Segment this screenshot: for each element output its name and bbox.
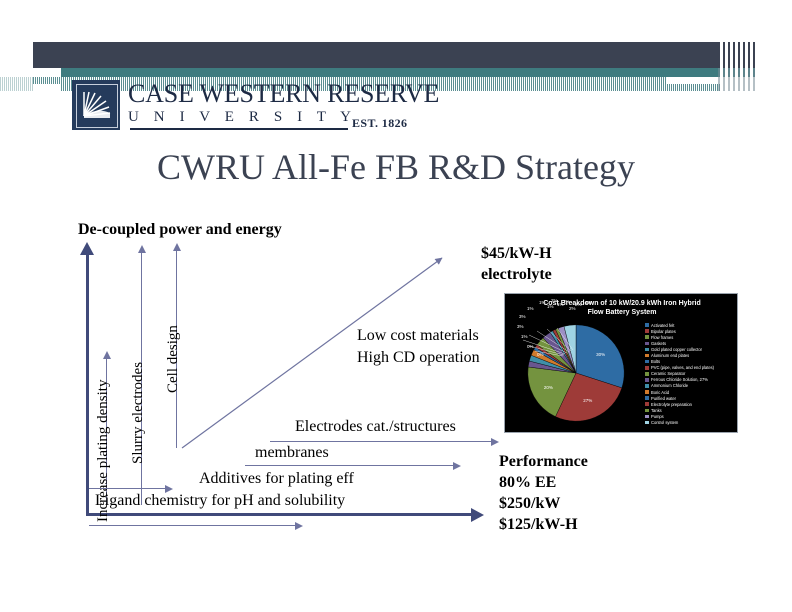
header-teal-notch-left [33,68,61,77]
legend-label: Electrolyte preparation [651,402,692,407]
legend-swatch [645,372,649,376]
y-axis-line [86,252,89,516]
header-white-notch [666,77,721,84]
y-axis-arrowhead [80,242,94,255]
logo-line-1: CASE WESTERN RESERVE [128,80,448,107]
chart-legend: Activated feltBipolar platesFlow framesG… [645,322,737,426]
pie-slice-label: 0% [537,352,544,357]
legend-swatch [645,415,649,419]
pie-slice-label: 2% [569,306,576,311]
legend-item: Control system [645,420,737,426]
chart-title-line-1: Cost Breakdown of 10 kW/20.9 kWh Iron Hy… [513,299,731,308]
pie-slice-label: 3% [517,324,524,329]
pie-slice-label: 1% [521,334,528,339]
legend-label: Tanks [651,408,662,413]
header-hatch-fade [0,77,33,91]
cost-callout: $45/kW-H electrolyte [481,243,552,285]
header-teal-band [33,68,756,77]
vertical-label-slurry-electrodes: Slurry electrodes [130,362,147,464]
legend-label: Bipolar plates [651,329,676,334]
diagonal-note-line-2: High CD operation [357,347,480,369]
pie-graphic: 30%27%20%2%2%2%1%1%3%3%1%0%0%1%1%2%4% [523,320,629,426]
legend-swatch [645,366,649,370]
legend-swatch [645,384,649,388]
legend-swatch [645,390,649,394]
horizontal-arrow-2 [89,488,166,489]
legend-label: Flow frames [651,335,673,340]
pie-slice-label: 20% [544,385,553,390]
legend-label: Gaskets [651,341,666,346]
pie-slice-label: 0% [527,344,534,349]
pie-slice-label: 30% [596,352,605,357]
header-navy-bar [33,42,756,68]
cost-callout-line-1: $45/kW-H [481,243,552,264]
legend-label: Ferrous Chloride Solution, 27% [651,377,708,382]
x-axis-line [86,513,478,516]
performance-line-3: $250/kW [499,493,588,514]
legend-swatch [645,348,649,352]
pie-slice-label: 2% [575,302,582,307]
slide-canvas: 26 CASE WESTERN RESERVE U N I V E R S I … [0,0,792,612]
legend-swatch [645,402,649,406]
horizontal-arrow-1 [89,525,296,526]
legend-label: Pumps [651,414,664,419]
page-title: CWRU All-Fe FB R&D Strategy [0,146,792,188]
pie-slice-label: 27% [583,398,592,403]
logo-underline [130,128,348,130]
chart-title: Cost Breakdown of 10 kW/20.9 kWh Iron Hy… [513,299,731,317]
pie-slice-label: 1% [547,304,554,309]
cwru-logo-mark [72,80,120,130]
legend-swatch [645,342,649,346]
diagram-heading: De-coupled power and energy [78,221,282,239]
pie-slice-label: 2% [563,299,570,304]
legend-label: PVC (pipe, valves, and end plates) [651,365,714,370]
chart-title-line-2: Flow Battery System [513,308,731,317]
legend-label: Gold plated copper collector [651,347,702,352]
legend-label: Activated felt [651,323,674,328]
performance-line-1: Performance [499,451,588,472]
legend-label: Boric Acid [651,390,669,395]
legend-label: Purified water [651,396,676,401]
diagonal-note-line-1: Low cost materials [357,325,480,347]
header-right-stripes-top [718,42,756,68]
pie-slice-label: 3% [519,314,526,319]
legend-label: Ceramic Separator [651,371,685,376]
pie-slices [523,320,629,426]
legend-swatch [645,421,649,425]
cost-breakdown-pie-chart: Cost Breakdown of 10 kW/20.9 kWh Iron Hy… [504,293,738,433]
cost-callout-line-2: electrolyte [481,264,552,285]
performance-line-4: $125/kW-H [499,514,588,535]
performance-callout: Performance 80% EE $250/kW $125/kW-H [499,451,588,535]
legend-swatch [645,378,649,382]
legend-swatch [645,323,649,327]
legend-swatch [645,396,649,400]
legend-swatch [645,409,649,413]
horizontal-label-additives: Additives for plating eff [199,470,354,488]
pie-slice-label: 1% [557,302,564,307]
legend-label: Aluminum end plates [651,353,689,358]
legend-label: Bolts [651,359,660,364]
x-axis-arrowhead [471,508,484,522]
legend-swatch [645,329,649,333]
performance-line-2: 80% EE [499,472,588,493]
logo-est-text: EST. 1826 [352,116,407,131]
legend-swatch [645,354,649,358]
pie-slice-label: 1% [539,300,546,305]
pie-slice-label: 4% [585,300,592,305]
legend-label: Control system [651,420,678,425]
diagonal-note: Low cost materials High CD operation [357,325,480,369]
legend-swatch [645,335,649,339]
legend-label: Ammonium Chloride [651,383,688,388]
horizontal-label-ligand-chemistry: Ligand chemistry for pH and solubility [95,492,345,510]
pie-slice-label: 1% [527,306,534,311]
horizontal-arrow-3 [245,465,454,466]
legend-swatch [645,360,649,364]
sunburst-icon [72,80,120,130]
